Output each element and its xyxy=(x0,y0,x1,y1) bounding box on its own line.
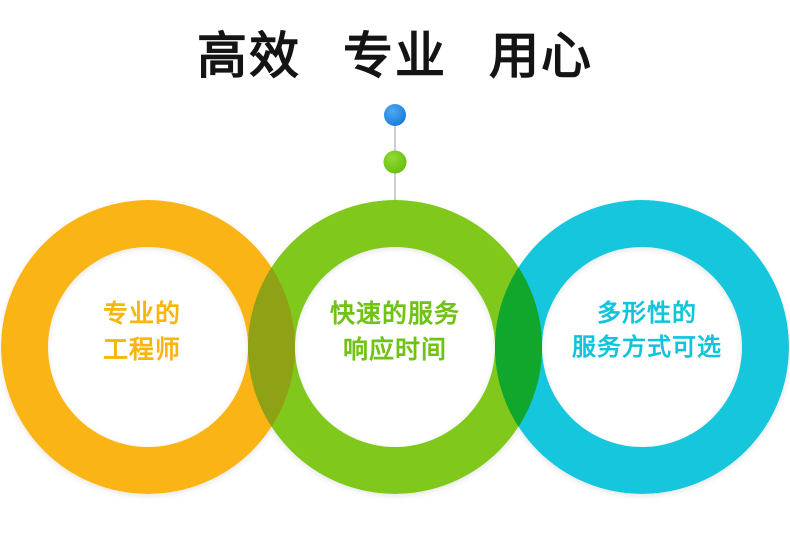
ring-label-fast-service-response: 快速的服务 响应时间 xyxy=(287,296,503,367)
ring-label-flexible-service-options: 多形性的 服务方式可选 xyxy=(534,296,760,364)
page-title: 高效专业用心 xyxy=(0,28,790,86)
title-segment-2: 专业 xyxy=(343,28,447,86)
green-dot-icon xyxy=(384,151,407,174)
ring-label-professional-engineers: 专业的 工程师 xyxy=(42,296,242,367)
title-segment-3: 用心 xyxy=(489,28,593,86)
infographic-canvas: 高效专业用心 xyxy=(0,0,790,557)
title-segment-1: 高效 xyxy=(197,28,301,86)
blue-dot-icon xyxy=(384,104,406,126)
